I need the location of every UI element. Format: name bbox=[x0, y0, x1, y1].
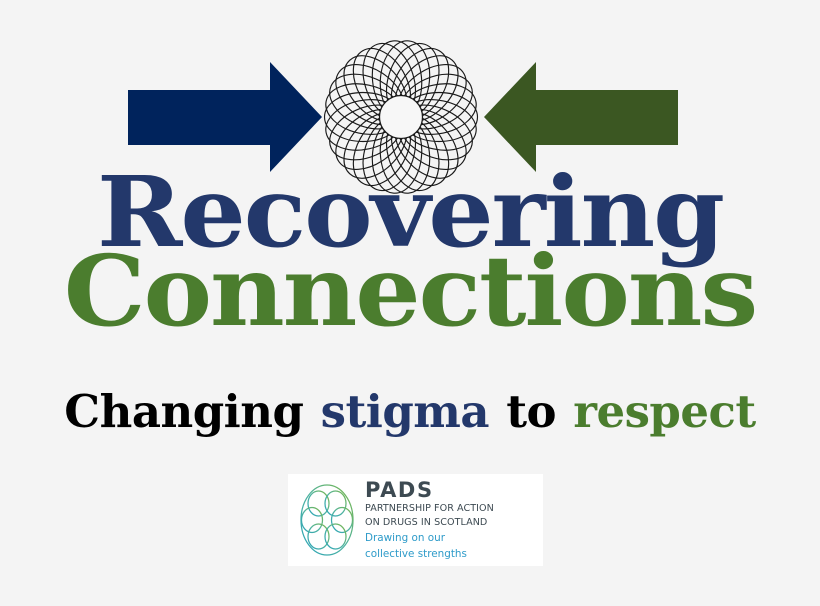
wordmark: Recovering Connections bbox=[0, 168, 820, 336]
pads-slogan-line-2: collective strengths bbox=[365, 548, 535, 560]
tagline-word-changing: Changing bbox=[64, 385, 303, 438]
pads-text-block: PADS PARTNERSHIP FOR ACTION ON DRUGS IN … bbox=[365, 480, 535, 560]
pads-flower-rosette-icon bbox=[298, 483, 356, 557]
logo-canvas: Recovering Connections Changing stigma t… bbox=[0, 0, 820, 606]
tagline-word-to: to bbox=[506, 385, 556, 438]
pads-slogan-line-1: Drawing on our bbox=[365, 532, 535, 544]
pads-title: PADS bbox=[365, 480, 535, 501]
pads-subtitle-line-2: ON DRUGS IN SCOTLAND bbox=[365, 517, 535, 528]
tagline-word-respect: respect bbox=[573, 385, 755, 438]
pads-subtitle-line-1: PARTNERSHIP FOR ACTION bbox=[365, 503, 535, 514]
wordmark-line-connections: Connections bbox=[0, 247, 820, 336]
pads-partner-card: PADS PARTNERSHIP FOR ACTION ON DRUGS IN … bbox=[288, 474, 543, 566]
tagline: Changing stigma to respect bbox=[0, 385, 820, 438]
tagline-word-stigma: stigma bbox=[321, 385, 489, 438]
